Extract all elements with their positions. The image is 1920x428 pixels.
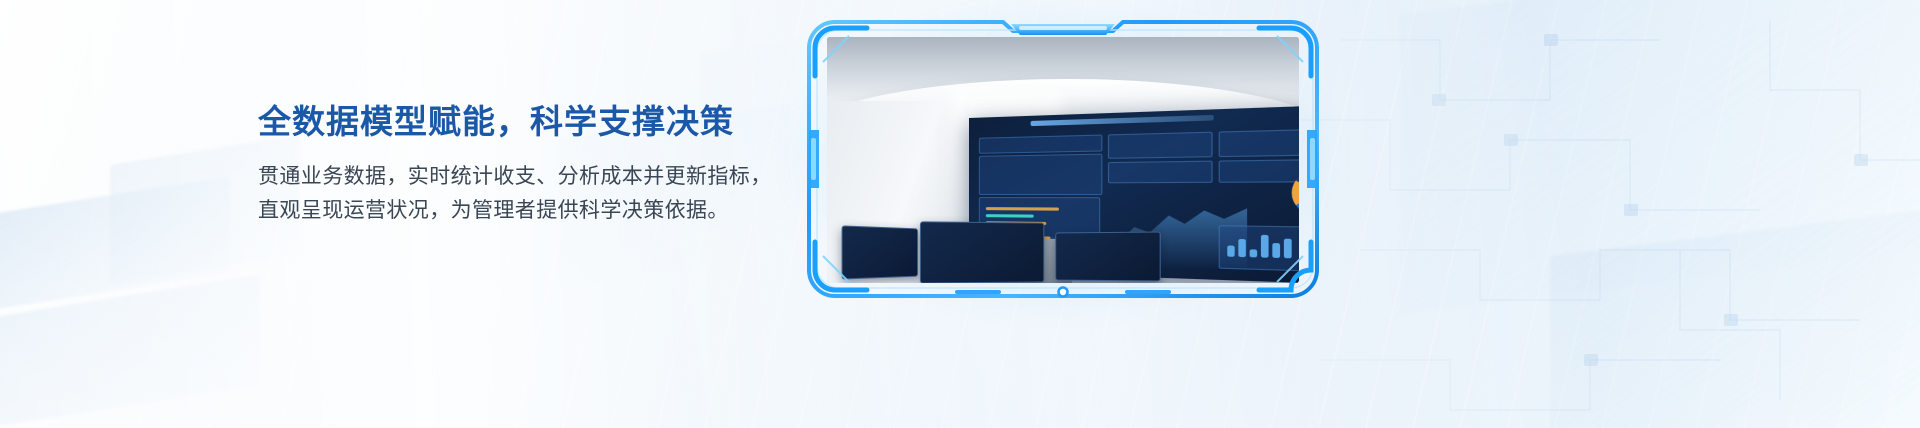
page-title: 全数据模型赋能，科学支撑决策	[258, 103, 818, 142]
banner-subtitle: 贯通业务数据，实时统计收支、分析成本并更新指标， 直观呈现运营状况，为管理者提供…	[258, 160, 818, 228]
banner-text-block: 全数据模型赋能，科学支撑决策 贯通业务数据，实时统计收支、分析成本并更新指标， …	[258, 103, 818, 228]
showcase-panel	[805, 18, 1321, 300]
background-block	[0, 176, 230, 312]
background-block	[0, 275, 260, 428]
subtitle-line-1: 贯通业务数据，实时统计收支、分析成本并更新指标，	[258, 160, 818, 194]
background-block	[1550, 204, 1920, 428]
subtitle-line-2: 直观呈现运营状况，为管理者提供科学决策依据。	[258, 194, 818, 228]
hud-frame-icon	[805, 18, 1321, 300]
circuit-pattern-icon	[1300, 0, 1920, 428]
banner-root: 全数据模型赋能，科学支撑决策 贯通业务数据，实时统计收支、分析成本并更新指标， …	[0, 0, 1920, 428]
background-block	[1400, 0, 1920, 314]
